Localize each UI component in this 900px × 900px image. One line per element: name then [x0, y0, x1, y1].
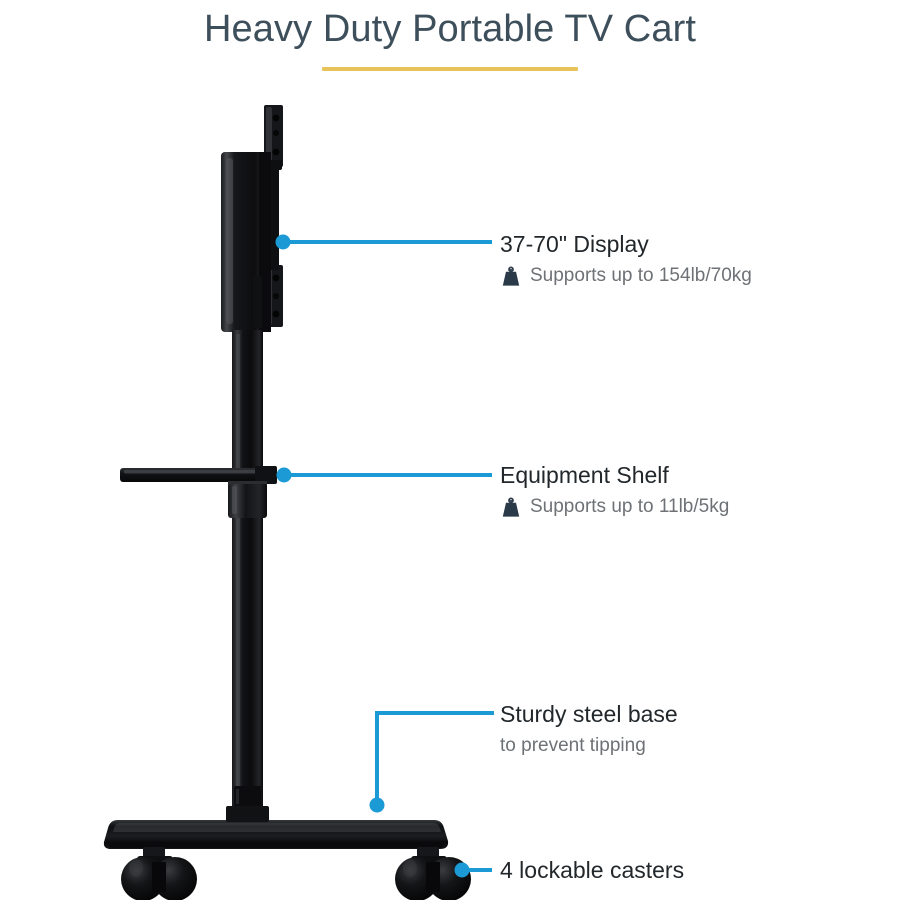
- callout-shelf-sub-row: Supports up to 11lb/5kg: [500, 495, 729, 519]
- callout-display: 37-70" Display Supports up to 154lb/70kg: [500, 230, 752, 288]
- vertical-pole: [232, 330, 263, 822]
- page-title: Heavy Duty Portable TV Cart: [0, 0, 900, 56]
- leader-line-shelf: [277, 468, 493, 483]
- callout-base: Sturdy steel base to prevent tipping: [500, 700, 678, 758]
- caster-left: [121, 847, 197, 900]
- display-column: [221, 152, 271, 332]
- leader-line-base: [370, 713, 493, 813]
- callout-casters: 4 lockable casters: [500, 856, 684, 885]
- product-infographic: Heavy Duty Portable TV Cart: [0, 0, 900, 900]
- title-underline-rule: [322, 67, 578, 71]
- product-illustration: [0, 0, 900, 900]
- equipment-shelf: [120, 466, 277, 484]
- callout-display-sub: Supports up to 154lb/70kg: [530, 264, 752, 288]
- callout-base-sub-row: to prevent tipping: [500, 734, 678, 758]
- caster-right: [395, 847, 471, 900]
- leader-lines: [276, 235, 493, 878]
- steel-base-bar: [104, 806, 448, 849]
- callout-shelf-title: Equipment Shelf: [500, 461, 729, 490]
- callout-base-title: Sturdy steel base: [500, 700, 678, 729]
- title-block: Heavy Duty Portable TV Cart: [0, 0, 900, 71]
- callout-casters-title: 4 lockable casters: [500, 856, 684, 885]
- leader-line-casters: [455, 863, 493, 878]
- callout-display-sub-row: Supports up to 154lb/70kg: [500, 264, 752, 288]
- callout-display-title: 37-70" Display: [500, 230, 752, 259]
- weight-icon: [500, 497, 522, 518]
- leader-line-display: [276, 235, 493, 250]
- vesa-mount-bracket: [264, 105, 283, 327]
- callout-shelf-sub: Supports up to 11lb/5kg: [530, 495, 729, 519]
- callout-base-sub: to prevent tipping: [500, 734, 646, 758]
- callout-shelf: Equipment Shelf Supports up to 11lb/5kg: [500, 461, 729, 519]
- weight-icon: [500, 266, 522, 287]
- pole-collar: [228, 481, 267, 518]
